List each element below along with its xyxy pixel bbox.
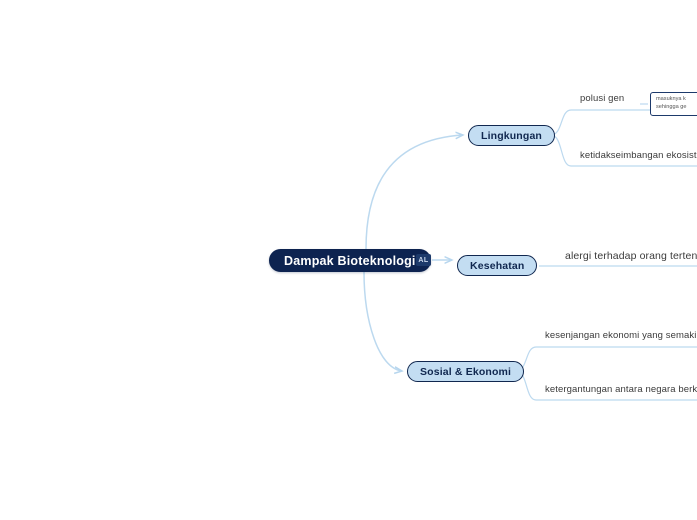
leaf-label-ketidakseimbangan-ekosistem[interactable]: ketidakseimbangan ekosistem bbox=[580, 150, 697, 162]
branch-node-label: Sosial & Ekonomi bbox=[420, 366, 511, 378]
branch-node-label: Kesehatan bbox=[470, 260, 524, 272]
mindmap-canvas[interactable]: Dampak Bioteknologi AL Lingkungan Keseha… bbox=[0, 0, 697, 520]
root-node-dampak-bioteknologi[interactable]: Dampak Bioteknologi bbox=[269, 249, 431, 272]
root-node-badge[interactable]: AL bbox=[416, 254, 431, 266]
callout-line-2: sehingga ge bbox=[656, 104, 697, 112]
branch-node-label: Lingkungan bbox=[481, 130, 542, 142]
callout-line-1: masuknya k bbox=[656, 96, 697, 104]
root-node-badge-label: AL bbox=[418, 257, 428, 264]
branch-node-lingkungan[interactable]: Lingkungan bbox=[468, 125, 555, 146]
branch-node-sosial-ekonomi[interactable]: Sosial & Ekonomi bbox=[407, 361, 524, 382]
leaf-label-polusi-gen[interactable]: polusi gen bbox=[580, 93, 624, 105]
leaf-label-ketergantungan-negara[interactable]: ketergantungan antara negara berker bbox=[545, 384, 697, 396]
root-node-label: Dampak Bioteknologi bbox=[284, 254, 416, 268]
callout-box-polusi-gen[interactable]: masuknya k sehingga ge bbox=[650, 92, 697, 116]
branch-node-kesehatan[interactable]: Kesehatan bbox=[457, 255, 537, 276]
leaf-label-kesenjangan-ekonomi[interactable]: kesenjangan ekonomi yang semakin b bbox=[545, 330, 697, 342]
leaf-label-alergi-terhadap-orang-tertentu[interactable]: alergi terhadap orang tertentu bbox=[565, 250, 697, 262]
